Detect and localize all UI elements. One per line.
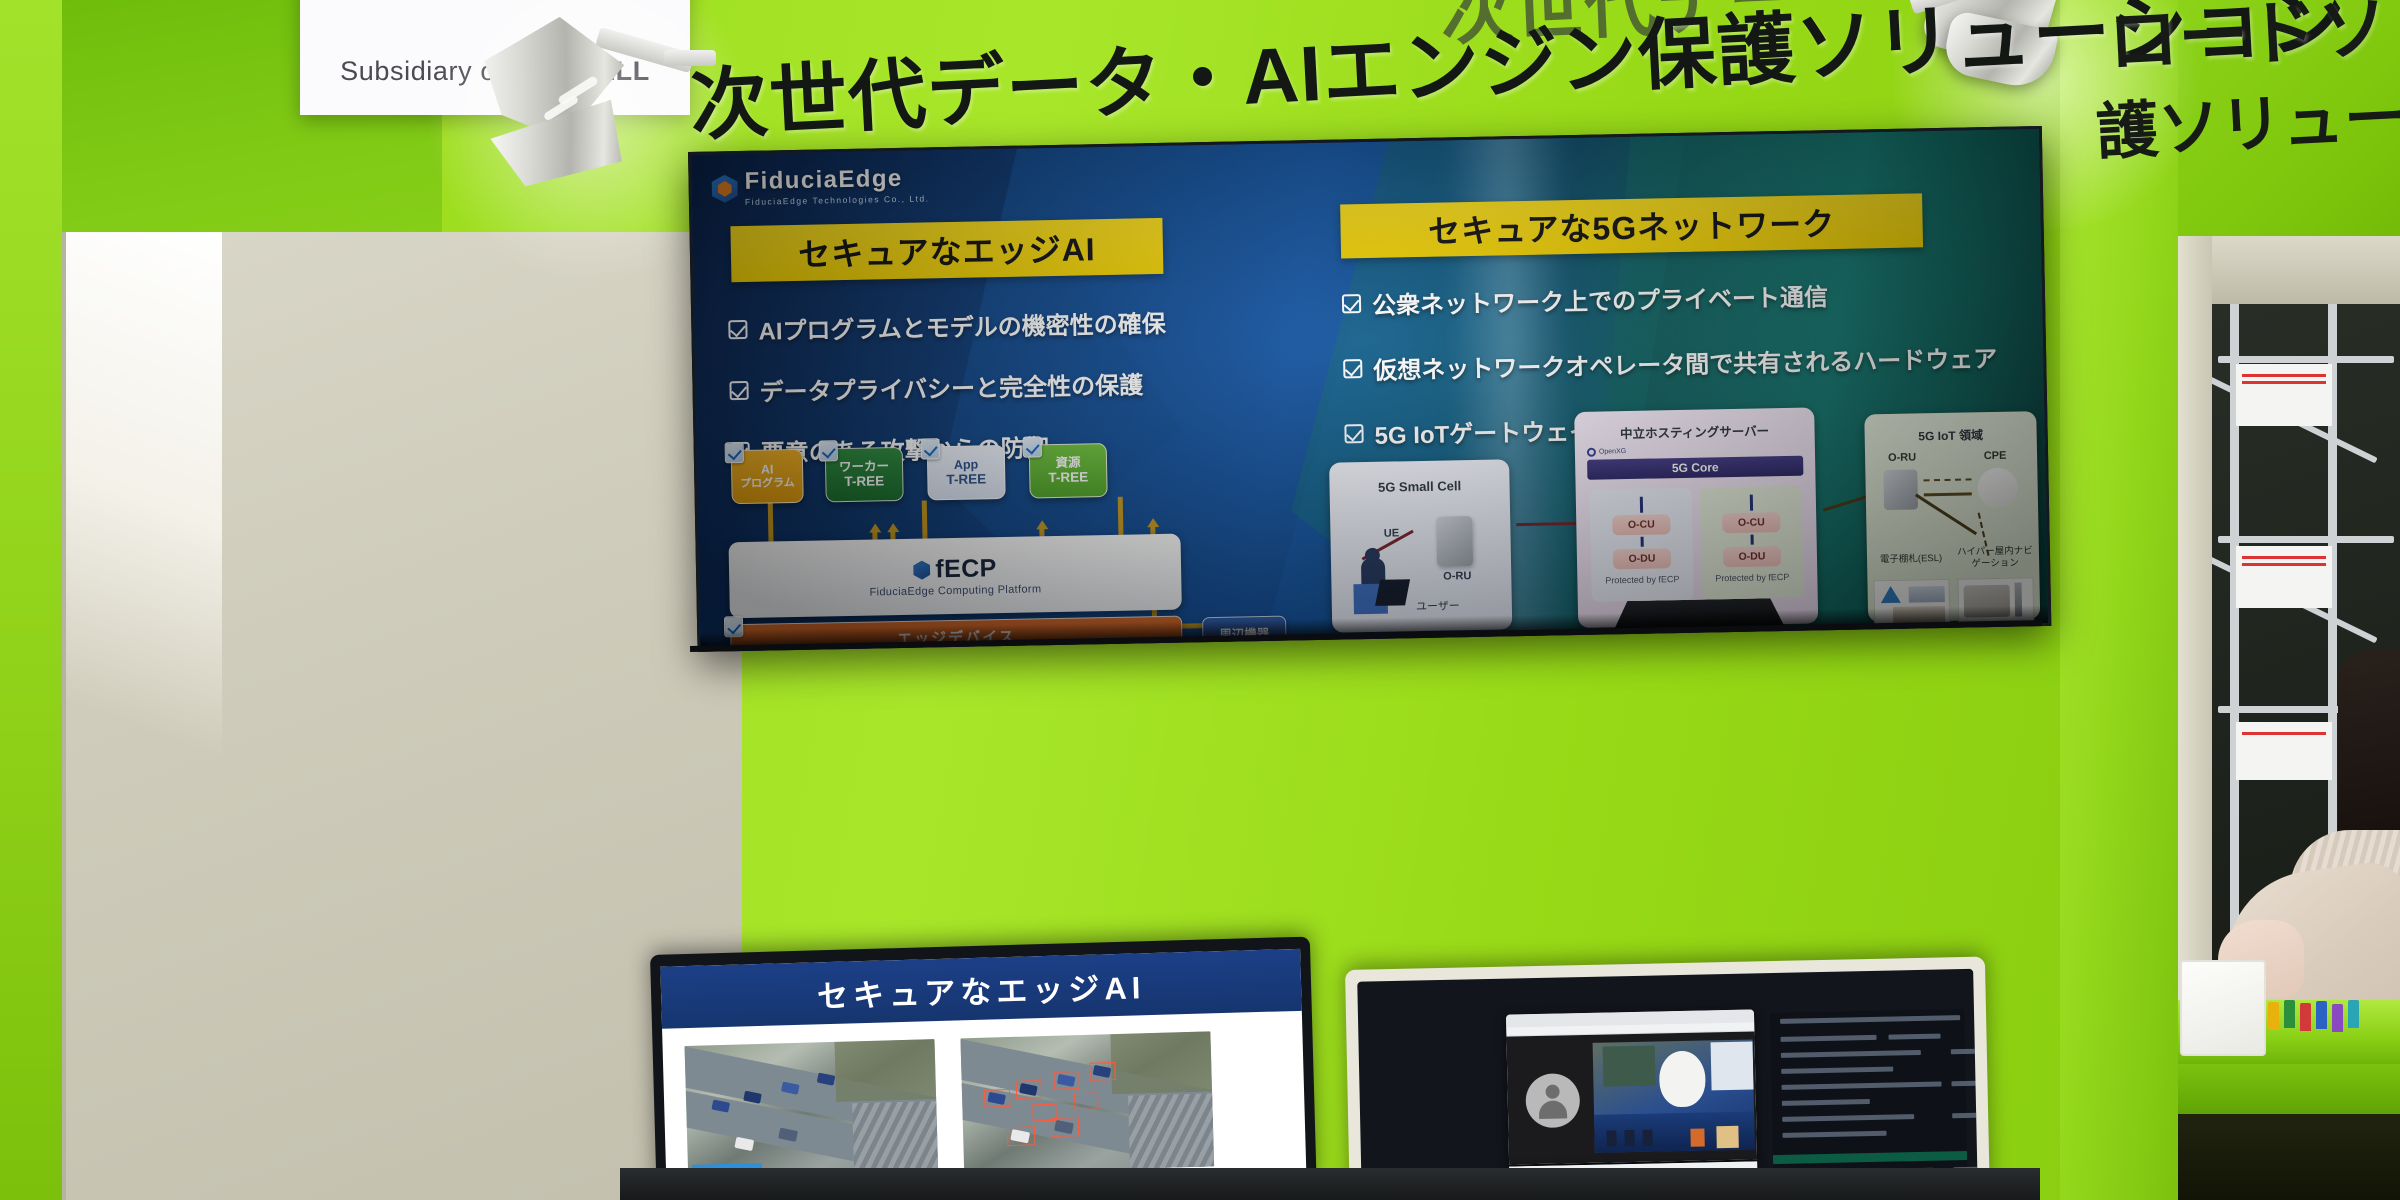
traffic-camera-ai-overlay	[960, 1031, 1214, 1173]
booth-cream-wall-highlight	[62, 232, 222, 832]
traffic-camera-raw	[685, 1039, 939, 1181]
brochure-tray	[2180, 960, 2266, 1056]
window-video-call[interactable]	[1506, 1009, 1757, 1164]
pen-holder	[2268, 1000, 2388, 1030]
booth-left-pillar	[0, 0, 62, 1200]
booth-counter-shadow	[2178, 1114, 2400, 1200]
monitor-right-screen	[1357, 969, 1977, 1200]
desk-surface	[620, 1168, 2040, 1200]
avatar	[1525, 1073, 1580, 1128]
display-vignette	[691, 129, 2048, 649]
screenshot-root: Subsidiary of CASWELL	[0, 0, 2400, 1200]
detection-box	[1053, 1071, 1079, 1090]
detection-box	[1032, 1104, 1056, 1122]
display-screen-content: FiduciaEdge FiduciaEdge Technologies Co.…	[691, 129, 2048, 649]
person-hair	[2338, 650, 2400, 860]
monitor-left: セキュアなエッジAI	[650, 937, 1317, 1200]
detection-box	[984, 1089, 1010, 1108]
detection-box	[1074, 1093, 1098, 1111]
booth-cream-wall-edge	[62, 232, 66, 1200]
main-display-screen: FiduciaEdge FiduciaEdge Technologies Co.…	[688, 126, 2051, 652]
detection-box	[1089, 1062, 1115, 1081]
terminal-window[interactable]	[1770, 1009, 1968, 1183]
monitor-right	[1345, 957, 1990, 1200]
booth-counter-front	[2178, 1064, 2400, 1114]
monitor-left-screen: セキュアなエッジAI	[660, 949, 1306, 1200]
video-tile	[1593, 1039, 1755, 1152]
monitor-left-title: セキュアなエッジAI	[816, 962, 1146, 1016]
detection-box	[1007, 1126, 1036, 1146]
video-call-body	[1506, 1031, 1757, 1164]
detection-box	[1016, 1080, 1042, 1099]
